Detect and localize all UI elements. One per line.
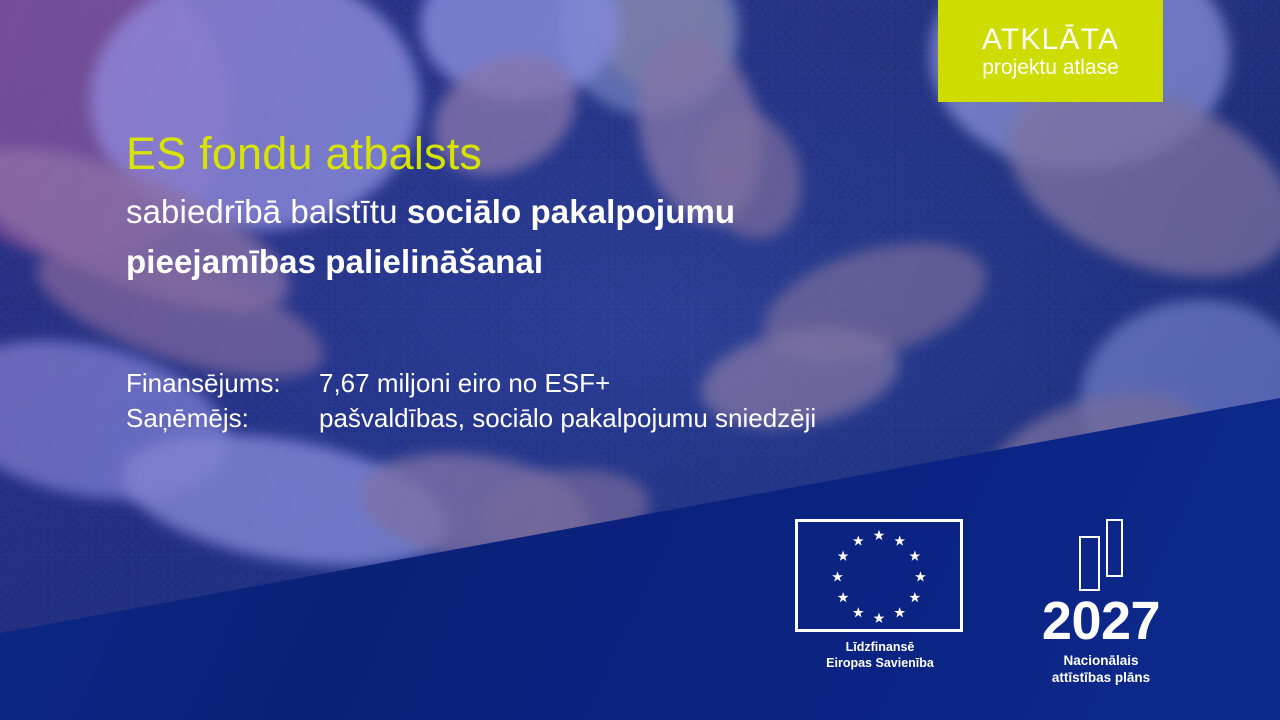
fact-row-recipient: Saņēmējs: pašvaldības, sociālo pakalpoju… [126, 401, 816, 436]
nap-logo-caption: Nacionālais attīstības plāns [1026, 652, 1176, 687]
nap-caption-line-2: attīstības plāns [1026, 669, 1176, 687]
eu-logo-caption: Līdzfinansē Eiropas Savienība [795, 639, 965, 671]
subtitle-regular-text: sabiedrībā balstītu [126, 193, 407, 230]
nap-2027-logo: 2027 Nacionālais attīstības plāns [1026, 519, 1176, 687]
fact-value-recipient: pašvaldības, sociālo pakalpojumu sniedzē… [319, 401, 816, 436]
promo-slide: ATKLĀTA projektu atlase ES fondu atbalst… [0, 0, 1280, 720]
nap-bar-right [1106, 519, 1123, 577]
fact-label-funding: Finansējums: [126, 366, 319, 401]
eu-caption-line-2: Eiropas Savienība [795, 655, 965, 671]
badge-subtitle: projektu atlase [982, 57, 1119, 78]
nap-bar-left [1079, 536, 1100, 591]
fact-value-funding: 7,67 miljoni eiro no ESF+ [319, 366, 610, 401]
nap-bars-icon [1073, 519, 1129, 591]
eu-flag-icon [795, 519, 963, 632]
eu-caption-line-1: Līdzfinansē [795, 639, 965, 655]
fact-row-funding: Finansējums: 7,67 miljoni eiro no ESF+ [126, 366, 816, 401]
fact-label-recipient: Saņēmējs: [126, 401, 319, 436]
page-subtitle: sabiedrībā balstītu sociālo pakalpojumu … [126, 187, 1006, 287]
page-title: ES fondu atbalsts [126, 127, 1006, 180]
badge-title: ATKLĀTA [982, 25, 1119, 55]
open-call-badge: ATKLĀTA projektu atlase [938, 0, 1163, 102]
headline-block: ES fondu atbalsts sabiedrībā balstītu so… [126, 127, 1006, 287]
subtitle-bold-text-1: sociālo pakalpojumu [407, 193, 735, 230]
nap-year: 2027 [1026, 597, 1176, 647]
eu-stars-icon [798, 522, 960, 631]
eu-cofunding-logo: Līdzfinansē Eiropas Savienība [795, 519, 965, 671]
subtitle-bold-text-2: pieejamības palielināšanai [126, 243, 543, 280]
nap-caption-line-1: Nacionālais [1026, 652, 1176, 670]
facts-block: Finansējums: 7,67 miljoni eiro no ESF+ S… [126, 366, 816, 436]
